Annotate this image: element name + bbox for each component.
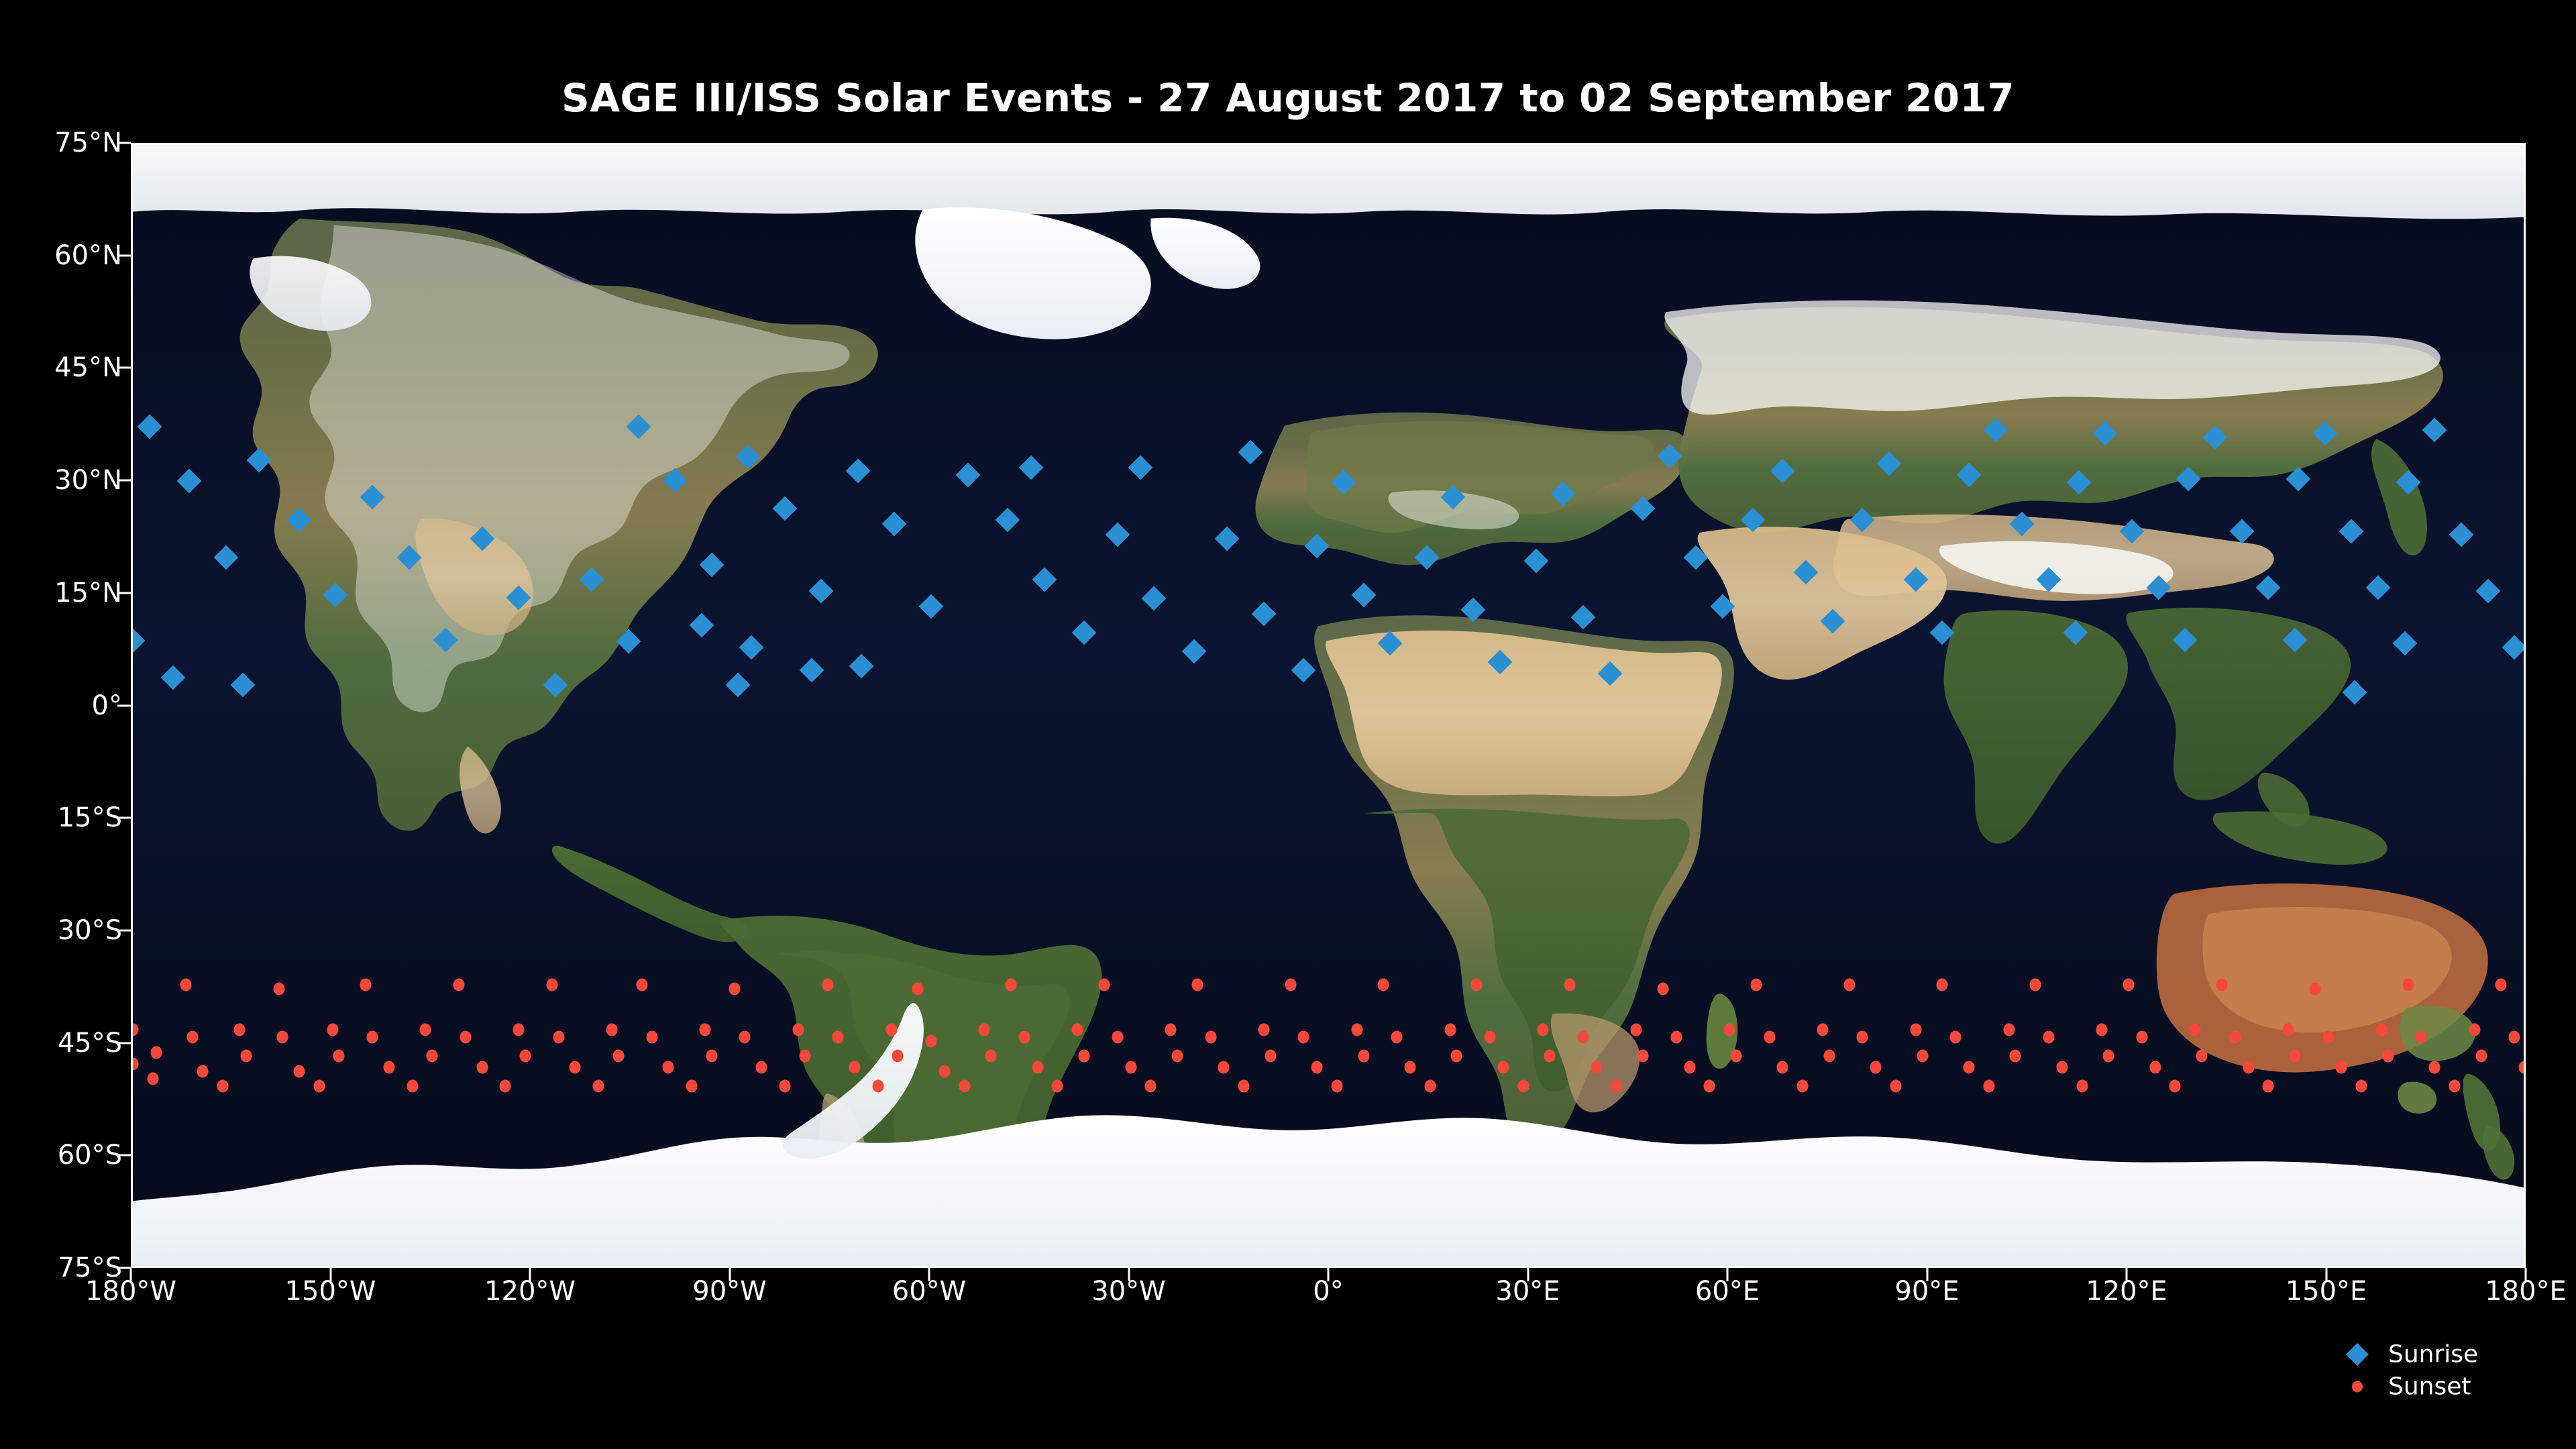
legend: Sunrise Sunset	[2348, 1338, 2563, 1403]
sunset-marker	[1577, 1031, 1589, 1044]
sunset-marker	[1358, 1050, 1369, 1063]
sunrise-marker	[882, 511, 907, 536]
y-axis-tick-mark	[117, 142, 131, 144]
sunrise-marker	[360, 485, 385, 510]
sunrise-marker	[772, 496, 797, 521]
sunset-marker	[1870, 1061, 1882, 1074]
sunrise-marker	[2283, 627, 2308, 652]
sunset-marker	[2123, 979, 2135, 991]
sunrise-marker	[846, 459, 871, 484]
sunrise-marker	[2312, 421, 2337, 446]
sunrise-marker	[131, 629, 145, 653]
sunset-marker	[2309, 982, 2320, 995]
y-axis-tick-mark	[117, 1042, 131, 1044]
sunset-marker	[729, 982, 741, 995]
sunset-marker	[1331, 1080, 1342, 1093]
legend-item-sunrise: Sunrise	[2348, 1338, 2563, 1371]
sunset-marker	[938, 1065, 950, 1077]
sunrise-marker	[2037, 568, 2061, 592]
sunrise-marker	[1414, 545, 1439, 570]
sunrise-marker	[809, 579, 834, 604]
legend-label-sunset: Sunset	[2388, 1373, 2471, 1401]
sunset-marker	[407, 1080, 418, 1093]
event-markers-layer	[133, 145, 2524, 1266]
sunrise-marker	[1551, 481, 1576, 506]
y-axis-tick-label: 0°	[8, 690, 122, 721]
sunset-marker	[1497, 1061, 1509, 1074]
sunset-marker	[150, 1046, 162, 1059]
sunset-marker	[1451, 1050, 1462, 1063]
sunrise-marker	[1983, 417, 2008, 442]
x-axis-tick-mark	[1926, 1268, 1928, 1281]
sunrise-marker	[663, 468, 688, 492]
sunset-marker	[2289, 1050, 2300, 1063]
sunrise-marker	[580, 568, 604, 592]
sunrise-marker	[739, 635, 764, 660]
sunset-marker	[2076, 1080, 2088, 1093]
sunset-marker	[1351, 1024, 1362, 1036]
sunset-marker	[1950, 1031, 1962, 1044]
sunrise-marker	[2449, 523, 2473, 547]
sunset-marker	[217, 1080, 228, 1093]
sunset-marker	[1910, 1024, 1921, 1036]
sunset-marker	[1072, 1024, 1083, 1036]
sunrise-marker	[137, 415, 162, 439]
sunset-marker	[1704, 1080, 1715, 1093]
sunset-marker	[513, 1024, 525, 1036]
sunset-marker	[2382, 1050, 2394, 1063]
sunset-marker	[2190, 1024, 2201, 1036]
sunset-marker	[1937, 979, 1948, 991]
sunset-marker	[274, 982, 285, 995]
sunrise-marker	[1794, 560, 1819, 585]
sunset-marker	[546, 979, 557, 991]
sunset-marker	[2495, 979, 2507, 991]
sunrise-marker	[396, 545, 421, 570]
sunset-marker	[892, 1050, 904, 1063]
sunrise-marker	[1597, 661, 1622, 686]
sunset-marker	[739, 1031, 751, 1044]
sunset-marker	[872, 1080, 883, 1093]
sunset-marker	[663, 1061, 674, 1074]
sunset-marker	[2196, 1050, 2208, 1063]
sunrise-marker	[955, 463, 980, 488]
sunset-marker	[1657, 982, 1668, 995]
sunset-marker	[2429, 1061, 2440, 1074]
sunrise-marker	[247, 447, 272, 472]
sunrise-marker	[1441, 485, 1466, 510]
sunset-marker	[756, 1061, 767, 1074]
sunset-marker	[2229, 1031, 2241, 1044]
sunset-marker	[1191, 979, 1203, 991]
sunset-marker	[1724, 1024, 1735, 1036]
sunset-marker	[1538, 1024, 1549, 1036]
sunset-marker	[799, 1050, 810, 1063]
sunset-marker	[1218, 1061, 1230, 1074]
sunrise-marker	[1251, 601, 1276, 626]
sunrise-diamond-icon	[2346, 1343, 2369, 1366]
sunset-marker	[1405, 1061, 1416, 1074]
sunset-marker	[383, 1061, 394, 1074]
sunset-marker	[1670, 1031, 1682, 1044]
sunrise-marker	[1657, 444, 1682, 469]
sunset-marker	[1125, 1061, 1136, 1074]
sunset-marker	[926, 1035, 937, 1048]
sunset-marker	[180, 979, 192, 991]
sunset-marker	[1285, 979, 1296, 991]
sunset-marker	[1817, 1024, 1828, 1036]
sunrise-marker	[626, 415, 651, 439]
sunset-marker	[2056, 1061, 2068, 1074]
y-axis-tick-label: 15°S	[8, 802, 122, 833]
sunrise-marker	[1128, 455, 1153, 480]
sunset-marker	[327, 1024, 338, 1036]
sunset-marker	[612, 1050, 624, 1063]
sunset-marker	[1265, 1050, 1276, 1063]
y-axis-tick-label: 15°N	[8, 578, 122, 608]
sunrise-marker	[1291, 657, 1316, 682]
sunset-marker	[1424, 1080, 1436, 1093]
sunset-marker	[2243, 1061, 2254, 1074]
sunset-marker	[1777, 1061, 1788, 1074]
x-axis-tick-mark	[2525, 1268, 2527, 1281]
sunset-marker	[1638, 1050, 1649, 1063]
x-axis-tick-mark	[1727, 1268, 1729, 1281]
sunrise-marker	[177, 468, 202, 493]
sunset-marker	[2469, 1024, 2480, 1036]
x-axis-tick-mark	[1128, 1268, 1130, 1281]
sunrise-marker	[2422, 417, 2447, 442]
sunset-marker	[1564, 979, 1576, 991]
sunset-marker	[2449, 1080, 2460, 1093]
sunset-marker	[1611, 1080, 1622, 1093]
sunrise-marker	[1740, 508, 1765, 533]
sunset-marker	[2375, 1024, 2387, 1036]
sunset-marker	[570, 1061, 581, 1074]
sunset-marker	[147, 1072, 158, 1085]
sunset-marker	[1843, 979, 1855, 991]
sunset-marker	[2169, 1080, 2181, 1093]
sunrise-marker	[1711, 594, 1735, 619]
sunrise-marker	[1684, 545, 1709, 570]
sunrise-marker	[2176, 466, 2201, 491]
sunset-marker	[1917, 1050, 1928, 1063]
sunset-marker	[1823, 1050, 1835, 1063]
sunrise-marker	[1032, 568, 1057, 592]
sunset-marker	[979, 1024, 990, 1036]
sunset-marker	[2096, 1024, 2108, 1036]
sunset-marker	[197, 1065, 209, 1077]
sunset-marker	[1032, 1061, 1043, 1074]
legend-item-sunset: Sunset	[2348, 1371, 2563, 1403]
sunset-marker	[2103, 1050, 2114, 1063]
sunrise-marker	[2120, 519, 2145, 543]
sunrise-marker	[1351, 582, 1376, 607]
sunset-marker	[1444, 1024, 1456, 1036]
sunrise-marker	[1305, 534, 1330, 559]
sunset-marker	[1857, 1031, 1868, 1044]
sunset-marker	[706, 1050, 717, 1063]
sunset-marker	[2416, 1031, 2427, 1044]
sunrise-marker	[1238, 440, 1263, 465]
x-axis-tick-mark	[1527, 1268, 1529, 1281]
sunset-marker	[2030, 979, 2041, 991]
y-axis-tick-label: 60°N	[8, 240, 122, 271]
sunrise-marker	[1631, 496, 1656, 521]
sunset-marker	[420, 1024, 431, 1036]
sunrise-marker	[2066, 470, 2091, 495]
sunset-marker	[1631, 1024, 1642, 1036]
sunset-marker	[779, 1080, 790, 1093]
y-axis-tick-label: 30°N	[8, 465, 122, 496]
sunrise-marker	[726, 673, 751, 698]
sunset-marker	[131, 1024, 139, 1036]
y-axis-tick-mark	[117, 254, 131, 256]
sunset-marker	[1544, 1050, 1556, 1063]
sunset-marker	[636, 979, 647, 991]
sunrise-marker	[1142, 586, 1167, 611]
sunrise-marker	[2339, 519, 2364, 543]
sunset-marker	[822, 979, 834, 991]
sunrise-marker	[616, 629, 641, 654]
sunrise-marker	[736, 445, 761, 470]
sunrise-marker	[506, 586, 531, 610]
sunset-marker	[833, 1031, 844, 1044]
sunset-marker	[1517, 1080, 1529, 1093]
sunrise-marker	[919, 594, 944, 619]
sunset-marker	[367, 1031, 378, 1044]
sunrise-marker	[1877, 451, 1902, 476]
sunset-marker	[2322, 1031, 2334, 1044]
sunrise-marker	[1487, 650, 1512, 675]
sunset-marker	[1797, 1080, 1809, 1093]
sunrise-marker	[1018, 455, 1043, 480]
sunrise-marker	[287, 508, 312, 533]
sunset-marker	[1391, 1031, 1403, 1044]
y-axis-tick-mark	[117, 817, 131, 819]
sunrise-marker	[2229, 519, 2254, 543]
sunrise-marker	[2173, 627, 2198, 652]
sunset-marker	[1730, 1050, 1741, 1063]
sunrise-marker	[1930, 620, 1955, 645]
sunset-marker	[885, 1024, 897, 1036]
sunset-marker	[427, 1050, 438, 1063]
sunset-marker	[792, 1024, 804, 1036]
y-axis-tick-mark	[117, 1267, 131, 1269]
x-axis-tick-mark	[1328, 1268, 1330, 1281]
sunrise-marker	[1461, 598, 1486, 623]
sunset-marker	[460, 1031, 471, 1044]
sunrise-marker	[230, 673, 255, 698]
sunset-marker	[1684, 1061, 1695, 1074]
sunset-marker	[1165, 1024, 1177, 1036]
sunset-marker	[500, 1080, 511, 1093]
sunrise-marker	[433, 627, 458, 652]
sunset-marker	[1079, 1050, 1090, 1063]
sunrise-marker	[2010, 511, 2035, 536]
sunset-marker	[453, 979, 464, 991]
sunrise-marker	[1570, 605, 1595, 630]
y-axis-tick-label: 30°S	[8, 915, 122, 946]
y-axis-tick-mark	[117, 929, 131, 931]
sunset-marker	[1964, 1061, 1975, 1074]
sunrise-marker	[1850, 508, 1875, 533]
sunset-marker	[233, 1024, 245, 1036]
x-axis-tick-mark	[729, 1268, 731, 1281]
sunset-marker	[2336, 1061, 2347, 1074]
sunset-marker	[1052, 1080, 1063, 1093]
sunset-marker	[2216, 979, 2227, 991]
sunset-marker	[277, 1031, 288, 1044]
sunset-marker	[2003, 1024, 2015, 1036]
sunset-marker	[1311, 1061, 1323, 1074]
y-axis-tick-label: 45°N	[8, 352, 122, 383]
sunrise-marker	[2146, 575, 2171, 600]
sunrise-marker	[543, 673, 568, 698]
sunrise-marker	[1072, 620, 1097, 645]
sunset-marker	[476, 1061, 488, 1074]
sunrise-marker	[2392, 631, 2417, 656]
x-axis-tick-label: 180°E	[2445, 1276, 2576, 1307]
sunrise-marker	[2256, 575, 2281, 600]
sunset-marker	[985, 1050, 997, 1063]
sunrise-marker	[1331, 470, 1356, 495]
y-axis-tick-label: 45°S	[8, 1028, 122, 1059]
sunset-marker	[1764, 1031, 1775, 1044]
map-plot-area	[131, 143, 2526, 1268]
sunset-marker	[912, 982, 924, 995]
sunset-marker	[2356, 1080, 2367, 1093]
sunset-marker	[1591, 1061, 1602, 1074]
sunset-marker	[2136, 1031, 2147, 1044]
sunset-marker	[2402, 979, 2414, 991]
sunset-marker	[2010, 1050, 2021, 1063]
sunset-marker	[1018, 1031, 1030, 1044]
sunrise-marker	[2203, 425, 2228, 450]
sunset-marker	[593, 1080, 604, 1093]
sunrise-marker	[1820, 609, 1845, 634]
sunset-marker	[2509, 1031, 2520, 1044]
x-axis-tick-mark	[928, 1268, 930, 1281]
sunrise-marker	[1378, 631, 1403, 656]
sunset-marker	[2519, 1061, 2526, 1074]
sunrise-marker	[2093, 421, 2118, 446]
sunset-marker	[1238, 1080, 1250, 1093]
sunset-marker	[1298, 1031, 1309, 1044]
sunrise-marker	[2475, 579, 2500, 604]
y-axis-tick-mark	[117, 367, 131, 369]
x-axis-tick-mark	[529, 1268, 531, 1281]
y-axis-tick-label: 75°N	[8, 127, 122, 158]
sunrise-marker	[2343, 680, 2367, 705]
sunset-marker	[360, 979, 372, 991]
sunset-marker	[1171, 1050, 1183, 1063]
sunset-marker	[1006, 979, 1017, 991]
sunrise-marker	[213, 545, 238, 570]
sunrise-marker	[2502, 635, 2526, 660]
x-axis-tick-mark	[2126, 1268, 2128, 1281]
y-axis-tick-label: 60°S	[8, 1140, 122, 1171]
figure-root: SAGE III/ISS Solar Events - 27 August 20…	[0, 0, 2576, 1449]
sunrise-marker	[2286, 466, 2310, 491]
sunset-marker	[313, 1080, 325, 1093]
sunrise-marker	[1903, 568, 1928, 592]
sunrise-marker	[160, 665, 185, 690]
y-axis-tick-mark	[117, 480, 131, 482]
sunset-marker	[1112, 1031, 1123, 1044]
sunset-marker	[686, 1080, 698, 1093]
sunset-marker	[849, 1061, 860, 1074]
sunrise-marker	[849, 654, 873, 679]
sunset-circle-icon	[2352, 1381, 2363, 1393]
sunset-marker	[646, 1031, 657, 1044]
sunrise-marker	[699, 553, 724, 578]
sunset-marker	[2149, 1061, 2161, 1074]
sunrise-marker	[689, 612, 714, 637]
x-axis-tick-mark	[130, 1268, 132, 1281]
sunrise-marker	[1524, 549, 1549, 574]
sunset-marker	[293, 1065, 305, 1077]
sunset-marker	[131, 1057, 139, 1070]
y-axis-tick-mark	[117, 592, 131, 594]
sunset-marker	[240, 1050, 252, 1063]
sunrise-marker	[2063, 620, 2088, 645]
sunset-marker	[2283, 1024, 2294, 1036]
sunrise-marker	[323, 582, 348, 607]
sunset-marker	[2263, 1080, 2274, 1093]
x-axis-tick-mark	[329, 1268, 331, 1281]
sunrise-marker	[996, 508, 1020, 533]
sunrise-marker	[470, 527, 494, 551]
sunrise-marker	[1770, 459, 1795, 484]
sunrise-marker	[2365, 575, 2390, 600]
sunrise-marker	[2396, 470, 2420, 495]
sunset-marker	[959, 1080, 970, 1093]
sunrise-marker	[1957, 463, 1982, 488]
page-title: SAGE III/ISS Solar Events - 27 August 20…	[0, 75, 2576, 121]
sunset-marker	[699, 1024, 710, 1036]
sunset-marker	[187, 1031, 199, 1044]
sunset-marker	[1098, 979, 1110, 991]
sunset-marker	[1205, 1031, 1216, 1044]
sunset-marker	[2475, 1050, 2487, 1063]
y-axis-tick-mark	[117, 704, 131, 706]
sunset-marker	[1145, 1080, 1157, 1093]
sunset-marker	[1890, 1080, 1901, 1093]
sunset-marker	[1258, 1024, 1269, 1036]
sunrise-marker	[1181, 639, 1206, 663]
sunrise-marker	[1105, 523, 1130, 547]
sunrise-marker	[799, 657, 824, 682]
sunset-marker	[1471, 979, 1483, 991]
sunset-marker	[1750, 979, 1762, 991]
sunset-marker	[520, 1050, 531, 1063]
sunrise-marker	[1215, 527, 1240, 551]
x-axis-tick-mark	[2325, 1268, 2327, 1281]
sunset-marker	[1485, 1031, 1496, 1044]
sunset-marker	[333, 1050, 345, 1063]
sunset-marker	[1983, 1080, 1994, 1093]
sunset-marker	[553, 1031, 564, 1044]
sunset-marker	[2043, 1031, 2055, 1044]
sunset-marker	[1378, 979, 1389, 991]
sunset-marker	[606, 1024, 618, 1036]
legend-label-sunrise: Sunrise	[2388, 1341, 2478, 1368]
y-axis-tick-mark	[117, 1155, 131, 1157]
